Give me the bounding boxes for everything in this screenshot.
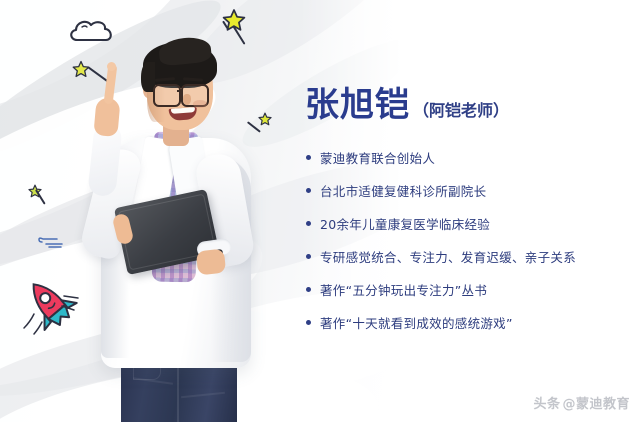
watermark-handle: @蒙迪教育 <box>562 393 630 412</box>
finger-tip <box>107 62 116 71</box>
watermark: 头条 @蒙迪教育 <box>533 393 630 412</box>
text-panel: 张旭铠 （阿铠老师） 蒙迪教育联合创始人 台北市适健复健科诊所副院长 20余年儿… <box>300 0 640 422</box>
list-item: 20余年儿童康复医学临床经验 <box>306 214 636 233</box>
credential-text: 20余年儿童康复医学临床经验 <box>320 214 490 233</box>
list-item: 专研感觉统合、专注力、发育迟缓、亲子关系 <box>306 247 636 266</box>
speaker-photo <box>85 28 275 422</box>
bullet-dot-icon <box>306 155 311 160</box>
list-item: 蒙迪教育联合创始人 <box>306 148 636 167</box>
bullet-dot-icon <box>306 221 311 226</box>
wind-icon <box>38 236 68 250</box>
eyeglasses-bridge <box>177 90 183 92</box>
toutiao-logo-text: 头条 <box>533 393 560 412</box>
list-item: 著作“十天就看到成效的感统游戏” <box>306 313 636 332</box>
speaker-alias: （阿铠老师） <box>413 97 509 121</box>
credential-text: 台北市适健复健科诊所副院长 <box>320 181 486 200</box>
speaker-title-row: 张旭铠 （阿铠老师） <box>305 88 509 122</box>
credential-text: 著作“五分钟玩出专注力”丛书 <box>320 280 487 299</box>
credential-text: 专研感觉统合、专注力、发育迟缓、亲子关系 <box>320 247 576 266</box>
credential-text: 著作“十天就看到成效的感统游戏” <box>320 313 513 332</box>
credentials-list: 蒙迪教育联合创始人 台北市适健复健科诊所副院长 20余年儿童康复医学临床经验 专… <box>306 148 636 346</box>
right-hand <box>196 249 226 276</box>
bullet-dot-icon <box>306 254 311 259</box>
bullet-dot-icon <box>306 320 311 325</box>
list-item: 台北市适健复健科诊所副院长 <box>306 181 636 200</box>
rocket-icon <box>18 272 84 338</box>
credential-text: 蒙迪教育联合创始人 <box>320 148 435 167</box>
speaker-profile-poster: 张旭铠 （阿铠老师） 蒙迪教育联合创始人 台北市适健复健科诊所副院长 20余年儿… <box>0 0 640 422</box>
eyeglasses-lens <box>153 84 181 107</box>
nose <box>183 94 191 105</box>
bullet-dot-icon <box>306 188 311 193</box>
list-item: 著作“五分钟玩出专注力”丛书 <box>306 280 636 299</box>
bullet-dot-icon <box>306 287 311 292</box>
speaker-name: 张旭铠 <box>305 88 410 122</box>
